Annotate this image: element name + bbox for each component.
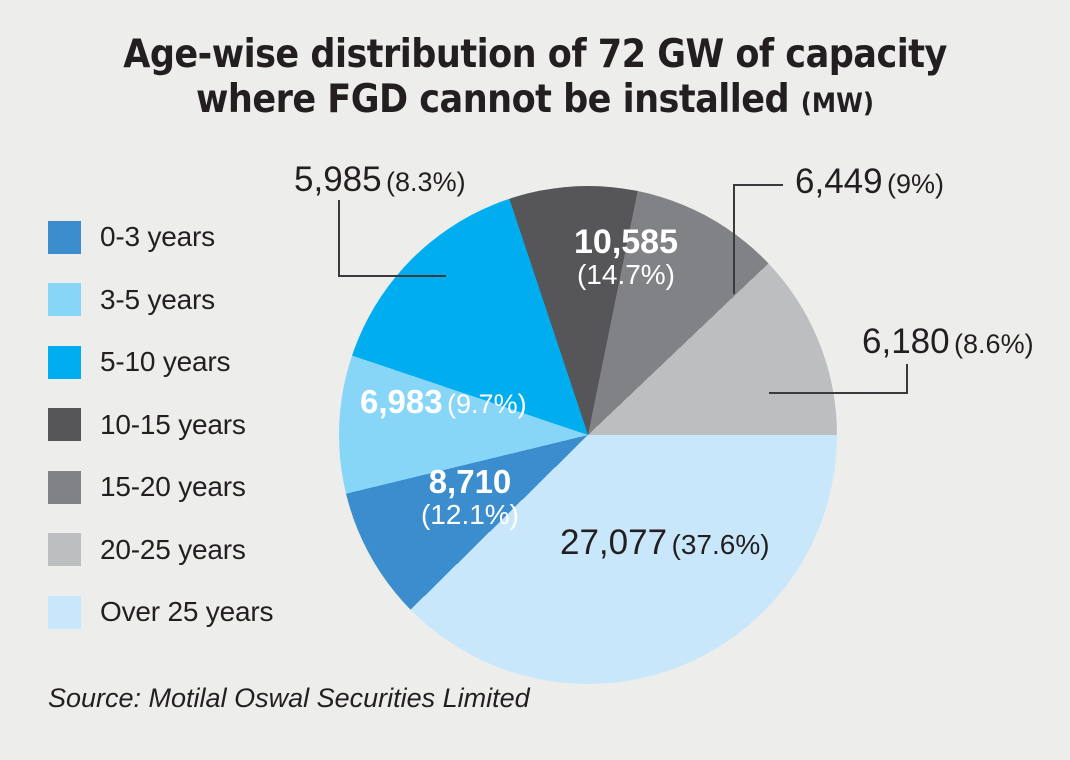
legend-swatch-icon [48, 283, 81, 316]
legend-swatch-icon [48, 408, 81, 441]
legend-item-label: 15-20 years [100, 471, 246, 503]
legend-swatch-icon [48, 471, 81, 504]
slice-percent: (8.6%) [954, 329, 1034, 359]
slice-value: 6,180 [862, 322, 950, 361]
leader-line-10-15-years [338, 275, 446, 277]
title-line-1: Age-wise distribution of 72 GW of capaci… [117, 32, 954, 77]
legend-item-5-10-years[interactable]: 5-10 years [48, 331, 318, 394]
slice-percent: (37.6%) [672, 529, 770, 560]
slice-value: 10,585 [536, 224, 716, 260]
legend-item-15-20-years[interactable]: 15-20 years [48, 456, 318, 519]
legend-swatch-icon [48, 533, 81, 566]
slice-label-5-10-years: 10,585 (14.7%) [536, 224, 716, 290]
leader-line-3-5-years [733, 184, 783, 186]
legend-item-3-5-years[interactable]: 3-5 years [48, 269, 318, 332]
legend-item-over-25-years[interactable]: Over 25 years [48, 581, 318, 644]
legend-item-label: 10-15 years [100, 409, 246, 441]
title-line-2: where FGD cannot be installed (MW) [117, 77, 954, 126]
legend-swatch-icon [48, 221, 81, 254]
slice-percent: (12.1%) [400, 500, 540, 530]
chart-canvas: Age-wise distribution of 72 GW of capaci… [0, 0, 1070, 760]
source-note: Source: Motilal Oswal Securities Limited [48, 683, 530, 714]
leader-line-3-5-years [733, 184, 735, 294]
legend-item-0-3-years[interactable]: 0-3 years [48, 206, 318, 269]
slice-value: 27,077 [560, 523, 667, 562]
slice-percent: (8.3%) [386, 167, 466, 197]
legend-swatch-icon [48, 346, 81, 379]
legend-item-10-15-years[interactable]: 10-15 years [48, 394, 318, 457]
legend-item-label: 0-3 years [100, 221, 215, 253]
leader-line-10-15-years [338, 200, 340, 277]
callout-label-10-15-years: 5,985 (8.3%) [294, 160, 466, 200]
legend-item-label: Over 25 years [100, 596, 273, 628]
title-unit: (MW) [801, 88, 874, 119]
leader-line-0-3-years [906, 364, 908, 394]
legend-swatch-icon [48, 596, 81, 629]
legend-item-20-25-years[interactable]: 20-25 years [48, 519, 318, 582]
slice-value: 6,449 [795, 162, 883, 201]
slice-label-over-25-years: 27,077 (37.6%) [560, 524, 770, 561]
legend-item-label: 3-5 years [100, 284, 215, 316]
legend: 0-3 years 3-5 years 5-10 years 10-15 yea… [48, 206, 318, 644]
leader-line-0-3-years [769, 392, 908, 394]
slice-value: 5,985 [294, 160, 382, 199]
slice-percent: (14.7%) [536, 260, 716, 290]
slice-value: 6,983 [360, 383, 443, 420]
slice-label-15-20-years: 6,983 (9.7%) [360, 385, 527, 420]
page-title: Age-wise distribution of 72 GW of capaci… [70, 32, 1000, 126]
callout-label-0-3-years: 6,180 (8.6%) [862, 322, 1034, 362]
title-line-2-text: where FGD cannot be installed [196, 77, 789, 122]
legend-item-label: 5-10 years [100, 346, 230, 378]
callout-label-3-5-years: 6,449 (9%) [795, 162, 944, 202]
slice-value: 8,710 [400, 465, 540, 500]
slice-label-20-25-years: 8,710 (12.1%) [400, 465, 540, 530]
slice-percent: (9%) [887, 169, 944, 199]
slice-percent: (9.7%) [447, 389, 527, 419]
legend-item-label: 20-25 years [100, 534, 246, 566]
